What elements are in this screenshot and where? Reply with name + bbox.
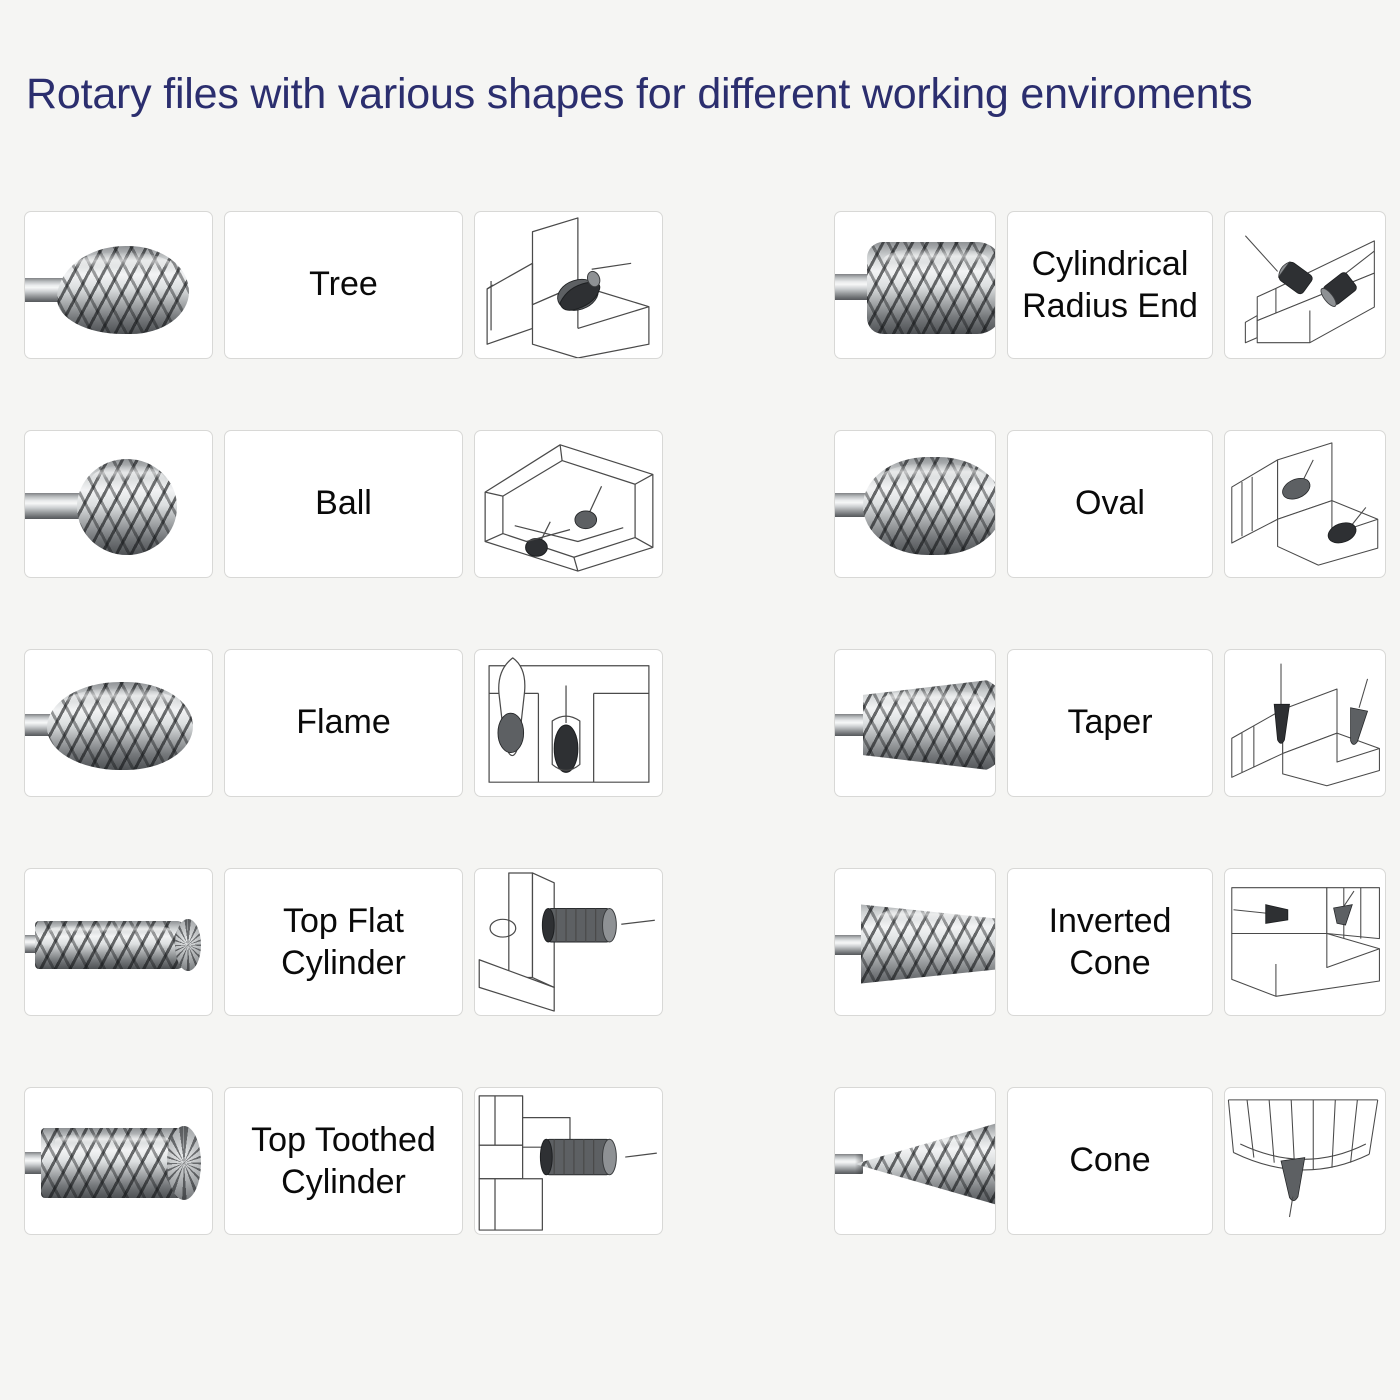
- shape-label-taper: Taper: [1007, 649, 1212, 797]
- application-diagram-taper: [1224, 649, 1386, 797]
- taper-burr-application-diagram: [1225, 650, 1385, 796]
- application-diagram-cylindrical-radius-end: [1224, 211, 1386, 359]
- application-diagram-top-toothed-cylinder: [474, 1087, 663, 1235]
- shape-label-line: Cone: [1049, 942, 1172, 985]
- shape-label-text: Cone: [1069, 1140, 1150, 1181]
- shape-label-line: Cylindrical: [1022, 243, 1198, 286]
- shape-item-oval: Oval: [748, 430, 1386, 578]
- ball-burr-photo: [25, 431, 212, 577]
- shape-label-text: Oval: [1075, 483, 1145, 524]
- taper-burr-photo: [835, 650, 995, 796]
- cylindrical-radius-end-burr-photo: [835, 212, 995, 358]
- product-photo-cylindrical-radius-end: [834, 211, 996, 359]
- shape-label-cylindrical-radius-end: Cylindrical Radius End: [1007, 211, 1212, 359]
- shape-label-flame: Flame: [224, 649, 463, 797]
- application-diagram-inverted-cone: [1224, 868, 1386, 1016]
- product-photo-ball: [24, 430, 213, 578]
- oval-burr-photo: [835, 431, 995, 577]
- flame-burr-application-diagram: [475, 650, 662, 796]
- shape-label-text: Taper: [1067, 702, 1152, 743]
- shape-grid: Tree: [24, 211, 1386, 1235]
- top-flat-cylinder-burr-photo: [25, 869, 212, 1015]
- shape-label-text: Top Flat Cylinder: [281, 900, 406, 985]
- shape-label-line: Cylinder: [251, 1161, 436, 1204]
- shape-label-text: Inverted Cone: [1049, 900, 1172, 985]
- shape-label-line: Top Toothed: [251, 1119, 436, 1162]
- shape-label-oval: Oval: [1007, 430, 1212, 578]
- shape-label-line: Radius End: [1022, 285, 1198, 328]
- shape-item-cylindrical-radius-end: Cylindrical Radius End: [748, 211, 1386, 359]
- shape-item-ball: Ball: [24, 430, 748, 578]
- shape-label-line: Top Flat: [281, 900, 406, 943]
- tree-burr-application-diagram: [475, 212, 662, 358]
- product-photo-inverted-cone: [834, 868, 996, 1016]
- shape-label-line: Cylinder: [281, 942, 406, 985]
- shape-label-cone: Cone: [1007, 1087, 1212, 1235]
- product-photo-tree: [24, 211, 213, 359]
- shape-label-inverted-cone: Inverted Cone: [1007, 868, 1212, 1016]
- product-photo-top-toothed-cylinder: [24, 1087, 213, 1235]
- flame-burr-photo: [25, 650, 212, 796]
- shape-item-top-flat-cylinder: Top Flat Cylinder: [24, 868, 748, 1016]
- shape-item-inverted-cone: Inverted Cone: [748, 868, 1386, 1016]
- top-toothed-cylinder-burr-photo: [25, 1088, 212, 1234]
- shape-label-text: Cylindrical Radius End: [1022, 243, 1198, 328]
- shape-label-top-toothed-cylinder: Top Toothed Cylinder: [224, 1087, 463, 1235]
- application-diagram-oval: [1224, 430, 1386, 578]
- ball-burr-application-diagram: [475, 431, 662, 577]
- shape-label-text: Ball: [315, 483, 372, 524]
- shape-item-tree: Tree: [24, 211, 748, 359]
- application-diagram-flame: [474, 649, 663, 797]
- cone-burr-photo: [835, 1088, 995, 1234]
- oval-burr-application-diagram: [1225, 431, 1385, 577]
- shape-label-ball: Ball: [224, 430, 463, 578]
- inverted-cone-burr-photo: [835, 869, 995, 1015]
- product-photo-top-flat-cylinder: [24, 868, 213, 1016]
- top-flat-cylinder-burr-application-diagram: [475, 869, 662, 1015]
- shape-label-line: Inverted: [1049, 900, 1172, 943]
- cylindrical-radius-end-burr-application-diagram: [1225, 212, 1385, 358]
- shape-label-text: Top Toothed Cylinder: [251, 1119, 436, 1204]
- tree-burr-photo: [25, 212, 212, 358]
- shape-label-tree: Tree: [224, 211, 463, 359]
- shape-label-text: Tree: [309, 264, 378, 305]
- application-diagram-ball: [474, 430, 663, 578]
- infographic-page: Rotary files with various shapes for dif…: [0, 0, 1400, 1400]
- inverted-cone-burr-application-diagram: [1225, 869, 1385, 1015]
- shape-item-taper: Taper: [748, 649, 1386, 797]
- application-diagram-cone: [1224, 1087, 1386, 1235]
- product-photo-oval: [834, 430, 996, 578]
- application-diagram-top-flat-cylinder: [474, 868, 663, 1016]
- shape-label-text: Flame: [296, 702, 390, 743]
- product-photo-taper: [834, 649, 996, 797]
- page-title: Rotary files with various shapes for dif…: [26, 70, 1252, 119]
- shape-label-top-flat-cylinder: Top Flat Cylinder: [224, 868, 463, 1016]
- product-photo-flame: [24, 649, 213, 797]
- shape-item-flame: Flame: [24, 649, 748, 797]
- application-diagram-tree: [474, 211, 663, 359]
- top-toothed-cylinder-burr-application-diagram: [475, 1088, 662, 1234]
- shape-item-cone: Cone: [748, 1087, 1386, 1235]
- product-photo-cone: [834, 1087, 996, 1235]
- shape-item-top-toothed-cylinder: Top Toothed Cylinder: [24, 1087, 748, 1235]
- cone-burr-application-diagram: [1225, 1088, 1385, 1234]
